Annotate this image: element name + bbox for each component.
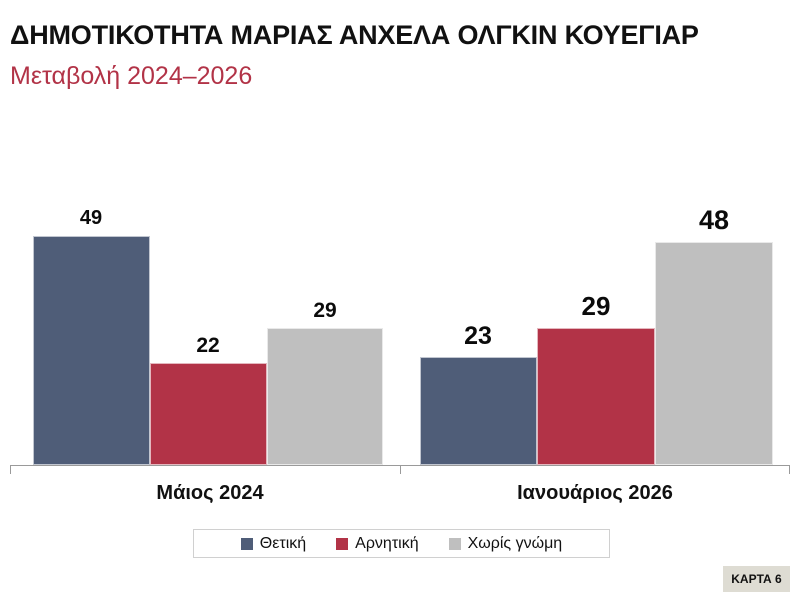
legend-item-noopinion[interactable]: Χωρίς γνώμη — [449, 535, 563, 553]
legend-swatch-noopinion-icon — [449, 538, 461, 550]
plot-area: 49 22 29 23 29 48 — [0, 150, 800, 480]
legend-swatch-negative-icon — [336, 538, 348, 550]
page-title: ΔΗΜΟΤΙΚΟΤΗΤΑ ΜΑΡΙΑΣ ΑΝΧΕΛΑ ΟΛΓΚΙΝ ΚΟΥΕΓΙ… — [10, 20, 699, 51]
bar-label-group2-noopinion: 48 — [679, 207, 749, 234]
bar-label-group1-noopinion: 29 — [290, 300, 360, 321]
category-label-group2: Ιανουάριος 2026 — [495, 482, 695, 505]
bar-group1-positive[interactable] — [33, 236, 150, 465]
legend-label-positive: Θετική — [260, 535, 306, 553]
legend-swatch-positive-icon — [241, 538, 253, 550]
bar-group1-noopinion[interactable] — [267, 328, 383, 465]
bar-group1-negative[interactable] — [150, 363, 267, 465]
bar-group2-noopinion[interactable] — [655, 242, 773, 465]
bar-group2-negative[interactable] — [537, 328, 655, 465]
card-number-badge: ΚΑΡΤΑ 6 — [723, 566, 790, 592]
legend-item-positive[interactable]: Θετική — [241, 535, 306, 553]
chart-legend: Θετική Αρνητική Χωρίς γνώμη — [193, 529, 610, 558]
axis-tick-end — [789, 465, 790, 474]
axis-tick-start — [10, 465, 11, 474]
bar-label-group1-positive: 49 — [56, 208, 126, 228]
bar-label-group2-positive: 23 — [443, 324, 513, 349]
legend-label-noopinion: Χωρίς γνώμη — [468, 535, 563, 553]
category-label-group1: Μάιος 2024 — [105, 482, 315, 505]
bar-label-group2-negative: 29 — [561, 293, 631, 319]
legend-item-negative[interactable]: Αρνητική — [336, 535, 418, 553]
legend-label-negative: Αρνητική — [355, 535, 418, 553]
axis-tick-group-separator — [400, 465, 401, 474]
chart-subtitle: Μεταβολή 2024–2026 — [10, 62, 252, 91]
bar-label-group1-negative: 22 — [173, 335, 243, 356]
bar-group2-positive[interactable] — [420, 357, 537, 465]
